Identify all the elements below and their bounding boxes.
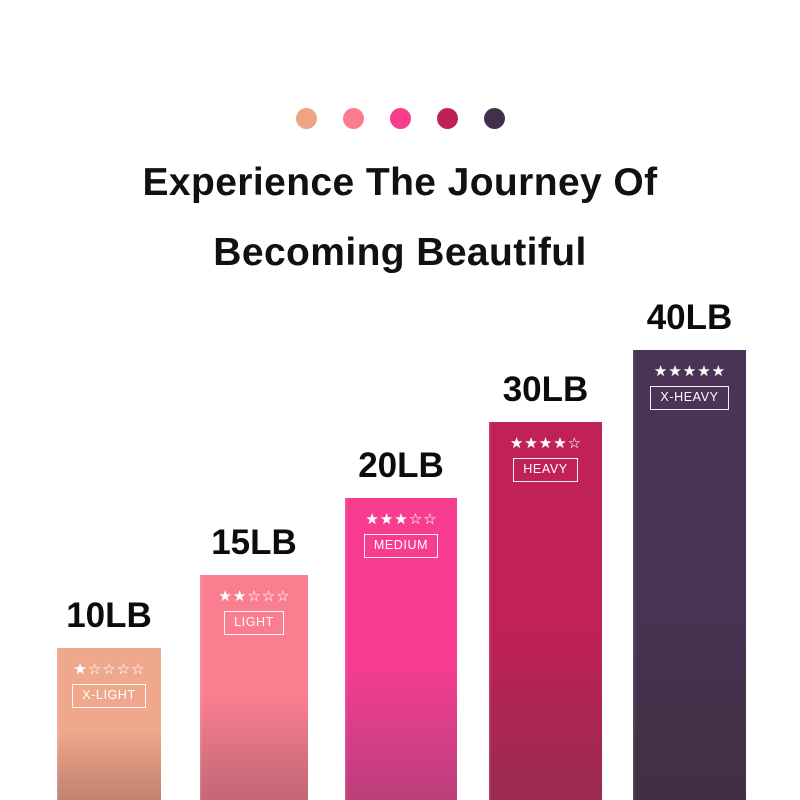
star-filled-icon: ★ bbox=[510, 436, 523, 451]
bar-content: ★★★☆☆MEDIUM bbox=[345, 512, 457, 558]
star-filled-icon: ★ bbox=[365, 512, 378, 527]
bar-column[interactable]: ★★★★☆HEAVY bbox=[489, 422, 602, 800]
bar-column[interactable]: ★★★☆☆MEDIUM bbox=[345, 498, 457, 800]
bar-group-40lb[interactable]: 40LB★★★★★X-HEAVY bbox=[633, 350, 746, 800]
star-empty-icon: ☆ bbox=[247, 589, 260, 604]
bar-weight-label: 15LB bbox=[211, 523, 297, 563]
bar-weight-label: 10LB bbox=[66, 596, 152, 636]
resistance-level-badge: HEAVY bbox=[513, 458, 577, 482]
bar-content: ★★★★★X-HEAVY bbox=[633, 364, 746, 410]
star-filled-icon: ★ bbox=[394, 512, 407, 527]
star-empty-icon: ☆ bbox=[131, 662, 144, 677]
resistance-level-badge: LIGHT bbox=[224, 611, 284, 635]
star-empty-icon: ☆ bbox=[568, 436, 581, 451]
bar-group-10lb[interactable]: 10LB★☆☆☆☆X-LIGHT bbox=[57, 648, 161, 800]
star-empty-icon: ☆ bbox=[423, 512, 436, 527]
bar-column[interactable]: ★★☆☆☆LIGHT bbox=[200, 575, 308, 800]
star-filled-icon: ★ bbox=[73, 662, 86, 677]
star-filled-icon: ★ bbox=[668, 364, 681, 379]
star-empty-icon: ☆ bbox=[262, 589, 275, 604]
resistance-level-badge: X-LIGHT bbox=[72, 684, 146, 708]
star-filled-icon: ★ bbox=[233, 589, 246, 604]
star-empty-icon: ☆ bbox=[102, 662, 115, 677]
bar-weight-label: 40LB bbox=[647, 298, 733, 338]
resistance-level-badge: MEDIUM bbox=[364, 534, 438, 558]
bar-bottom-shade bbox=[633, 593, 746, 800]
star-rating: ★☆☆☆☆ bbox=[73, 662, 144, 677]
bar-bottom-shade bbox=[489, 626, 602, 800]
bar-column[interactable]: ★★★★★X-HEAVY bbox=[633, 350, 746, 800]
star-empty-icon: ☆ bbox=[88, 662, 101, 677]
bar-content: ★★☆☆☆LIGHT bbox=[200, 589, 308, 635]
bar-column[interactable]: ★☆☆☆☆X-LIGHT bbox=[57, 648, 161, 800]
star-rating: ★★★★★ bbox=[654, 364, 725, 379]
star-filled-icon: ★ bbox=[218, 589, 231, 604]
star-filled-icon: ★ bbox=[683, 364, 696, 379]
resistance-bar-chart: 10LB★☆☆☆☆X-LIGHT15LB★★☆☆☆LIGHT20LB★★★☆☆M… bbox=[0, 0, 800, 800]
star-empty-icon: ☆ bbox=[409, 512, 422, 527]
star-rating: ★★★★☆ bbox=[510, 436, 581, 451]
star-empty-icon: ☆ bbox=[117, 662, 130, 677]
star-filled-icon: ★ bbox=[380, 512, 393, 527]
star-rating: ★★☆☆☆ bbox=[218, 589, 289, 604]
bar-content: ★☆☆☆☆X-LIGHT bbox=[57, 662, 161, 708]
bar-group-30lb[interactable]: 30LB★★★★☆HEAVY bbox=[489, 422, 602, 800]
product-infographic: Experience The Journey Of Becoming Beaut… bbox=[0, 0, 800, 800]
star-filled-icon: ★ bbox=[553, 436, 566, 451]
star-filled-icon: ★ bbox=[524, 436, 537, 451]
star-filled-icon: ★ bbox=[712, 364, 725, 379]
bar-content: ★★★★☆HEAVY bbox=[489, 436, 602, 482]
resistance-level-badge: X-HEAVY bbox=[650, 386, 728, 410]
star-rating: ★★★☆☆ bbox=[365, 512, 436, 527]
bar-weight-label: 30LB bbox=[503, 370, 589, 410]
star-filled-icon: ★ bbox=[539, 436, 552, 451]
star-filled-icon: ★ bbox=[654, 364, 667, 379]
star-empty-icon: ☆ bbox=[276, 589, 289, 604]
bar-bottom-shade bbox=[57, 730, 161, 800]
bar-group-20lb[interactable]: 20LB★★★☆☆MEDIUM bbox=[345, 498, 457, 800]
star-filled-icon: ★ bbox=[697, 364, 710, 379]
bar-group-15lb[interactable]: 15LB★★☆☆☆LIGHT bbox=[200, 575, 308, 800]
bar-weight-label: 20LB bbox=[358, 446, 444, 486]
bar-bottom-shade bbox=[345, 661, 457, 800]
bar-bottom-shade bbox=[200, 697, 308, 800]
